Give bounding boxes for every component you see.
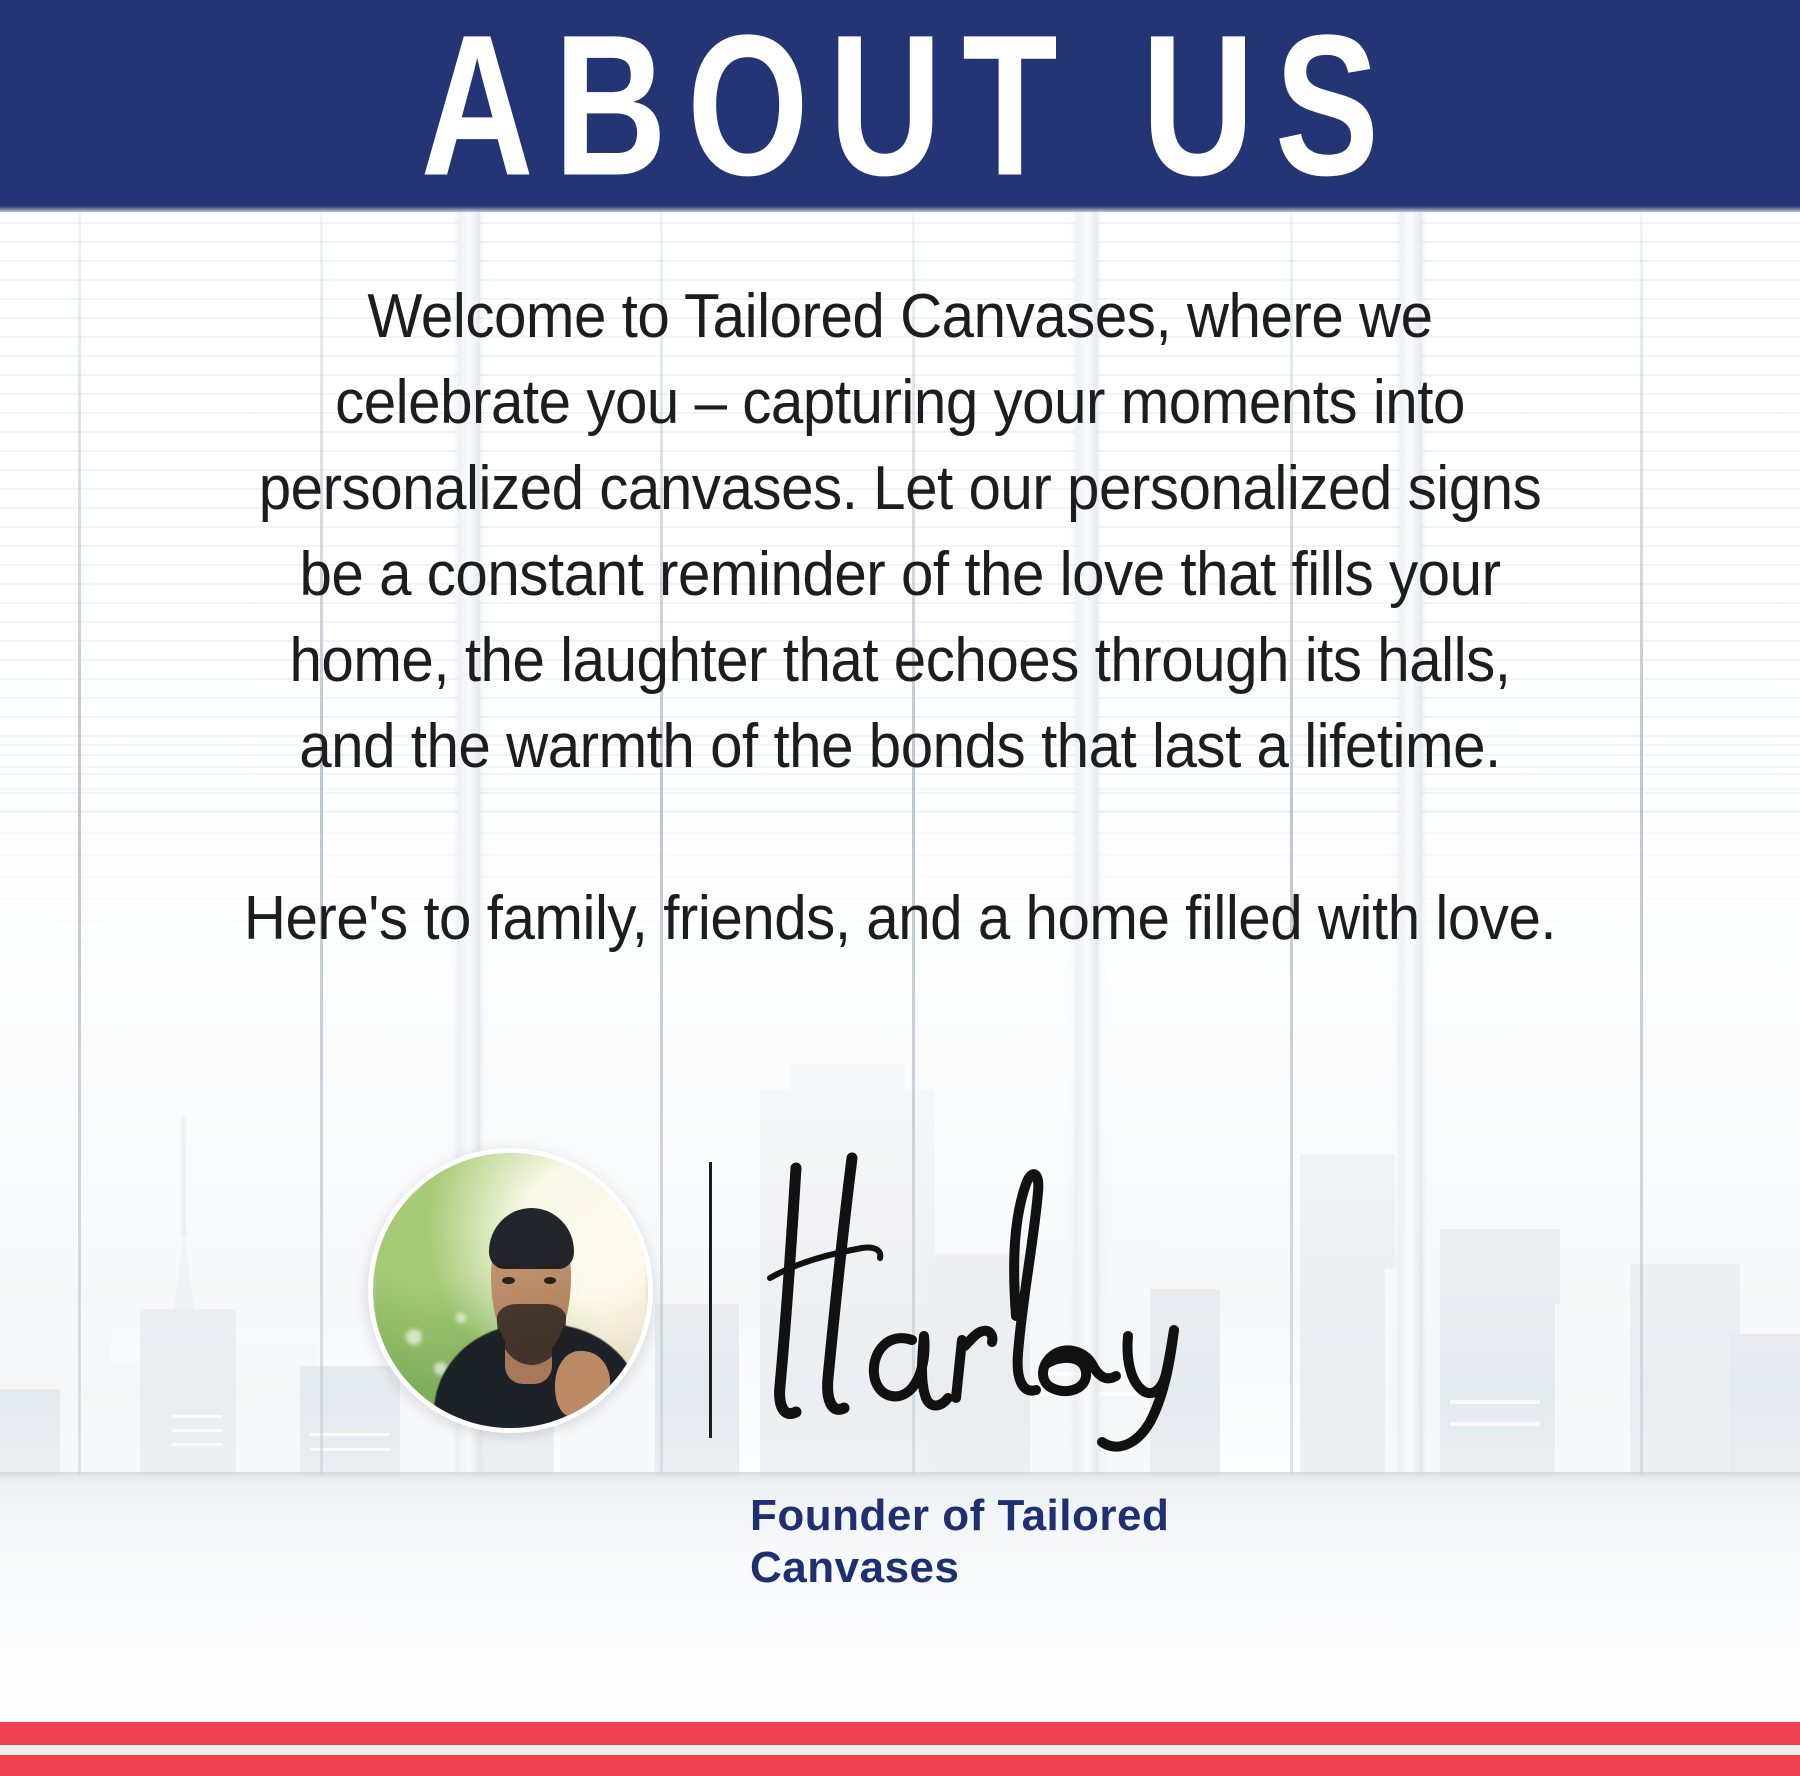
founder-portrait-image (373, 1153, 648, 1428)
about-paragraph-2: Here's to family, friends, and a home fi… (242, 876, 1558, 962)
founder-title-line-2: Canvases (750, 1542, 1350, 1594)
avatar (368, 1148, 653, 1433)
about-us-poster: ABOUT US Welcome to Tailored Canvases, w… (0, 0, 1800, 1776)
about-us-copy: Welcome to Tailored Canvases, where we c… (242, 274, 1558, 962)
portrait-hand (555, 1351, 610, 1417)
footer-rule-bottom (0, 1755, 1800, 1776)
window-mullion (1640, 184, 1643, 1514)
signature-divider (709, 1162, 712, 1438)
founder-signature (740, 1150, 1210, 1450)
page-title: ABOUT US (401, 6, 1400, 207)
header-underline (0, 206, 1800, 212)
founder-title: Founder of Tailored Canvases (750, 1490, 1350, 1594)
paragraph-spacer (242, 790, 1558, 876)
founder-title-line-1: Founder of Tailored (750, 1490, 1350, 1542)
header-banner: ABOUT US (0, 0, 1800, 212)
footer-rule-top (0, 1722, 1800, 1745)
about-paragraph-1: Welcome to Tailored Canvases, where we c… (242, 274, 1558, 790)
footer-rule-gap (0, 1745, 1800, 1755)
window-mullion (78, 184, 81, 1514)
